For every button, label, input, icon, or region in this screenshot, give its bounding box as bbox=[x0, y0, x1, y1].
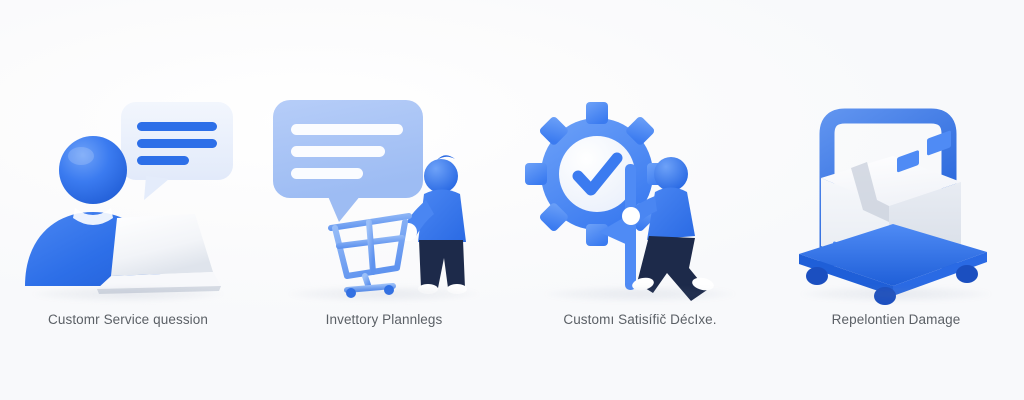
shipping-damage-hand-truck-box-icon bbox=[781, 96, 1011, 296]
satisfaction-svg bbox=[525, 96, 755, 296]
illustration-cell-satisfaction: Customı Satisífič DécIxe. bbox=[512, 0, 768, 400]
illustration-canvas: Customr Service quession bbox=[0, 0, 1024, 400]
caption-label: Repelontien Damage bbox=[768, 312, 1024, 327]
illustration-row: Customr Service quession bbox=[0, 0, 1024, 400]
illustration-cell-inventory: Invettory Plannlegs bbox=[256, 0, 512, 400]
inventory-shopping-cart-chat-icon bbox=[269, 96, 499, 296]
caption-label: Customr Service quession bbox=[0, 312, 256, 327]
speech-bubble bbox=[273, 100, 423, 222]
contact-shadow bbox=[545, 286, 735, 302]
shopping-cart bbox=[331, 216, 409, 290]
contact-shadow bbox=[33, 286, 223, 302]
contact-shadow bbox=[289, 286, 479, 302]
speech-bubble bbox=[121, 102, 233, 200]
satisfaction-gear-checkmark-icon bbox=[525, 96, 755, 296]
inventory-svg bbox=[269, 96, 499, 296]
contact-shadow bbox=[801, 286, 991, 302]
illustration-cell-shipping: Repelontien Damage bbox=[768, 0, 1024, 400]
illustration-cell-customer-service: Customr Service quession bbox=[0, 0, 256, 400]
caption-label: Customı Satisífič DécIxe. bbox=[512, 312, 768, 327]
shipping-svg bbox=[781, 96, 1011, 296]
gear bbox=[525, 102, 669, 246]
customer-service-svg bbox=[13, 96, 243, 296]
caption-label: Invettory Plannlegs bbox=[256, 312, 512, 327]
customer-service-person-laptop-chat-icon bbox=[13, 96, 243, 296]
